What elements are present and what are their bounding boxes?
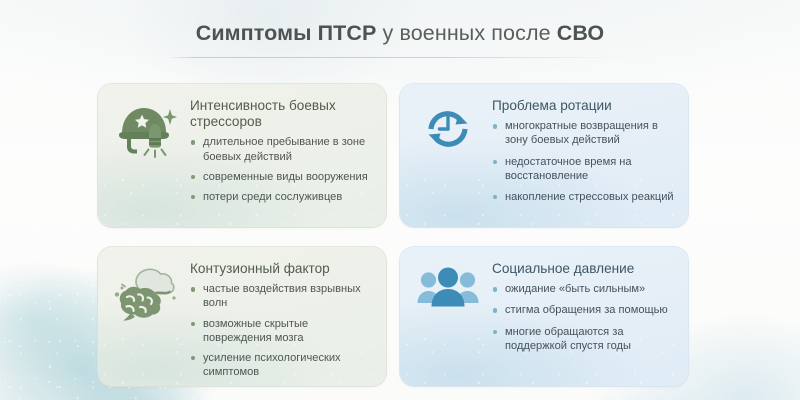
card-bullet-list: частые воздействия взрывных волн возможн… bbox=[190, 282, 374, 379]
card-rotation-problem[interactable]: Проблема ротации многократные возвращени… bbox=[400, 84, 688, 227]
card-concussion-factor[interactable]: Контузионный фактор частые воздействия в… bbox=[98, 247, 386, 386]
card-heading: Интенсивность боевых стрессоров bbox=[190, 98, 374, 130]
clock-rotation-icon bbox=[420, 102, 476, 156]
list-item: многократные возвращения в зону боевых д… bbox=[492, 119, 676, 147]
list-item: недостаточное время на восстановление bbox=[492, 155, 676, 183]
list-item: накопление стрессовых реакций bbox=[492, 190, 676, 204]
card-body: Социальное давление ожидание «быть сильн… bbox=[492, 257, 676, 378]
title-divider-rule bbox=[168, 57, 623, 58]
card-icon-container bbox=[410, 94, 486, 219]
military-helmet-icon bbox=[115, 102, 177, 160]
people-group-icon bbox=[417, 267, 479, 313]
card-icon-container bbox=[108, 257, 184, 378]
card-icon-container bbox=[410, 257, 486, 378]
card-heading: Социальное давление bbox=[492, 261, 676, 277]
card-heading: Проблема ротации bbox=[492, 98, 676, 114]
card-bullet-list: ожидание «быть сильным» стигма обращения… bbox=[492, 282, 676, 353]
list-item: длительное пребывание в зоне боевых дейс… bbox=[190, 135, 374, 163]
card-heading: Контузионный фактор bbox=[190, 261, 374, 277]
card-body: Проблема ротации многократные возвращени… bbox=[492, 94, 676, 219]
slide-header: Симптомы ПТСР у военных после СВО bbox=[0, 0, 800, 72]
card-combat-stressors[interactable]: Интенсивность боевых стрессоров длительн… bbox=[98, 84, 386, 227]
list-item: возможные скрытые повреждения мозга bbox=[190, 317, 374, 345]
list-item: многие обращаются за поддержкой спустя г… bbox=[492, 325, 676, 353]
card-social-pressure[interactable]: Социальное давление ожидание «быть сильн… bbox=[400, 247, 688, 386]
list-item: частые воздействия взрывных волн bbox=[190, 282, 374, 310]
list-item: современные виды вооружения bbox=[190, 170, 374, 184]
card-body: Интенсивность боевых стрессоров длительн… bbox=[190, 94, 374, 219]
card-bullet-list: длительное пребывание в зоне боевых дейс… bbox=[190, 135, 374, 204]
list-item: стигма обращения за помощью bbox=[492, 303, 676, 317]
card-bullet-list: многократные возвращения в зону боевых д… bbox=[492, 119, 676, 204]
list-item: ожидание «быть сильным» bbox=[492, 282, 676, 296]
page-title-emphasis-1: Симптомы ПТСР bbox=[196, 21, 377, 45]
page-title-emphasis-2: СВО bbox=[557, 21, 605, 45]
slide-canvas: Симптомы ПТСР у военных после СВО bbox=[0, 0, 800, 400]
brain-blast-icon bbox=[113, 267, 179, 325]
page-title: Симптомы ПТСР у военных после СВО bbox=[0, 21, 800, 46]
page-title-middle: у военных после bbox=[383, 21, 551, 45]
card-body: Контузионный фактор частые воздействия в… bbox=[190, 257, 374, 378]
card-grid: Интенсивность боевых стрессоров длительн… bbox=[98, 84, 702, 386]
list-item: потери среди сослуживцев bbox=[190, 190, 374, 204]
card-icon-container bbox=[108, 94, 184, 219]
list-item: усиление психологических симптомов bbox=[190, 351, 374, 379]
